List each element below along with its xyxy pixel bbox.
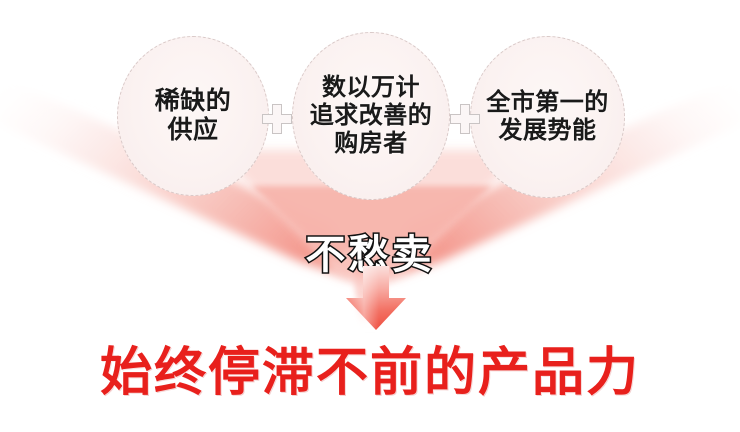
bottom-headline: 始终停滞不前的产品力	[0, 330, 740, 405]
circle-1-label: 稀缺的 供应	[155, 87, 232, 145]
tens-of-thousands-buyers-circle[interactable]: 数以万计 追求改善的 购房者	[292, 32, 450, 200]
circle-3-label: 全市第一的 发展势能	[486, 89, 609, 145]
city-first-momentum-circle[interactable]: 全市第一的 发展势能	[470, 36, 625, 198]
circle-2-label: 数以万计 追求改善的 购房者	[310, 74, 433, 157]
scarce-supply-circle[interactable]: 稀缺的 供应	[117, 36, 269, 196]
mid-headline: 不愁卖	[0, 222, 740, 280]
slide-canvas: 稀缺的 供应 数以万计 追求改善的 购房者 全市第一的 发展势能 不愁卖	[0, 0, 740, 432]
down-arrow-icon	[340, 266, 412, 332]
